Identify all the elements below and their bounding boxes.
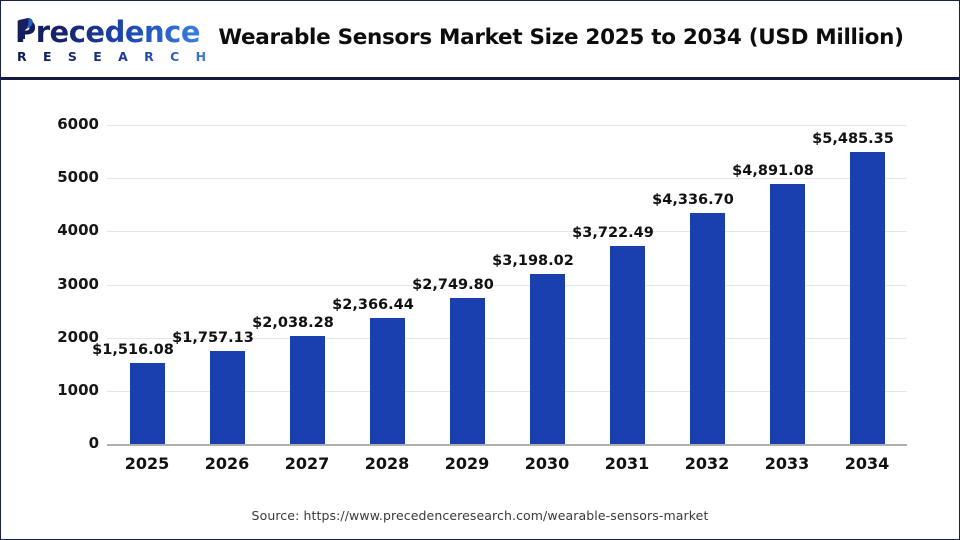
x-axis-tick-label: 2025: [107, 454, 187, 473]
x-axis-tick-label: 2031: [587, 454, 667, 473]
bar[interactable]: [450, 298, 485, 444]
x-axis-tick-label: 2033: [747, 454, 827, 473]
x-axis-tick-label: 2029: [427, 454, 507, 473]
bar-value-label: $2,038.28: [238, 315, 348, 331]
bar[interactable]: [130, 363, 165, 444]
chart-plot-area: 0100020003000400050006000 $1,516.082025$…: [1, 81, 959, 539]
bar-value-label: $2,366.44: [318, 297, 428, 313]
bar[interactable]: [290, 336, 325, 444]
bar-value-label: $3,722.49: [558, 225, 668, 241]
bar[interactable]: [770, 184, 805, 444]
bar[interactable]: [690, 213, 725, 444]
bar-value-label: $3,198.02: [478, 253, 588, 269]
x-axis-tick-label: 2028: [347, 454, 427, 473]
bar-value-label: $2,749.80: [398, 277, 508, 293]
bar[interactable]: [610, 246, 645, 444]
x-axis-tick-label: 2034: [827, 454, 907, 473]
bar-value-label: $4,891.08: [718, 163, 828, 179]
page-title: Wearable Sensors Market Size 2025 to 203…: [191, 25, 931, 50]
logo-wordmark: Precedence: [15, 15, 200, 49]
bar-value-label: $4,336.70: [638, 192, 748, 208]
logo-subtitle: R E S E A R C H: [17, 49, 212, 64]
x-axis-tick-label: 2030: [507, 454, 587, 473]
x-axis-tick-label: 2027: [267, 454, 347, 473]
bar-value-label: $5,485.35: [798, 131, 908, 147]
leaf-p-monogram-icon: [17, 17, 39, 41]
x-axis-tick-label: 2026: [187, 454, 267, 473]
source-caption: Source: https://www.precedenceresearch.c…: [1, 508, 959, 523]
bar-series: $1,516.082025$1,757.132026$2,038.282027$…: [1, 81, 959, 481]
bar[interactable]: [850, 152, 885, 444]
x-axis-tick-label: 2032: [667, 454, 747, 473]
bar[interactable]: [370, 318, 405, 444]
bar[interactable]: [210, 351, 245, 444]
precedence-research-logo: Precedence R E S E A R C H: [15, 15, 175, 67]
bar[interactable]: [530, 274, 565, 444]
bar-value-label: $1,757.13: [158, 330, 268, 346]
chart-page: Precedence R E S E A R C H Wearable Sens…: [0, 0, 960, 540]
chart-header: Precedence R E S E A R C H Wearable Sens…: [1, 1, 959, 80]
